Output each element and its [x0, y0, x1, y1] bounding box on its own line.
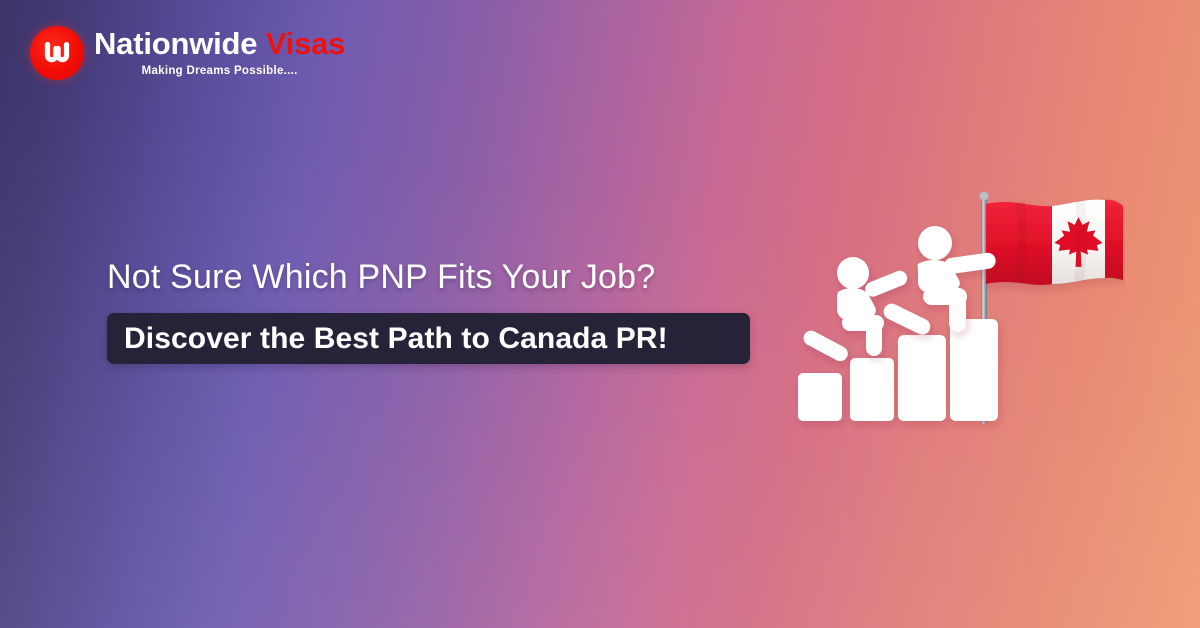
brand-logo-text: Nationwide Visas Making Dreams Possible.… [94, 28, 345, 78]
growth-bars [798, 319, 998, 421]
brand-wordmark: Nationwide Visas [94, 28, 345, 59]
bar-2 [850, 358, 894, 421]
subheadline-box: Discover the Best Path to Canada PR! [107, 313, 750, 364]
promo-banner: Nationwide Visas Making Dreams Possible.… [0, 0, 1200, 628]
brand-tagline: Making Dreams Possible.... [94, 66, 345, 78]
brand-logo[interactable]: Nationwide Visas Making Dreams Possible.… [30, 26, 345, 80]
bar-3 [898, 335, 946, 421]
canada-flag-icon [980, 192, 1123, 424]
brand-wordmark-secondary: Visas [266, 26, 345, 61]
brand-wordmark-primary: Nationwide [94, 26, 257, 61]
bar-4 [950, 319, 998, 421]
headline: Not Sure Which PNP Fits Your Job? [107, 258, 655, 297]
subheadline: Discover the Best Path to Canada PR! [107, 322, 668, 356]
bar-1 [798, 373, 842, 421]
climbers-on-growth-bars-with-canada-flag-illustration [780, 180, 1125, 440]
nationwide-visas-monogram-icon [30, 26, 84, 80]
